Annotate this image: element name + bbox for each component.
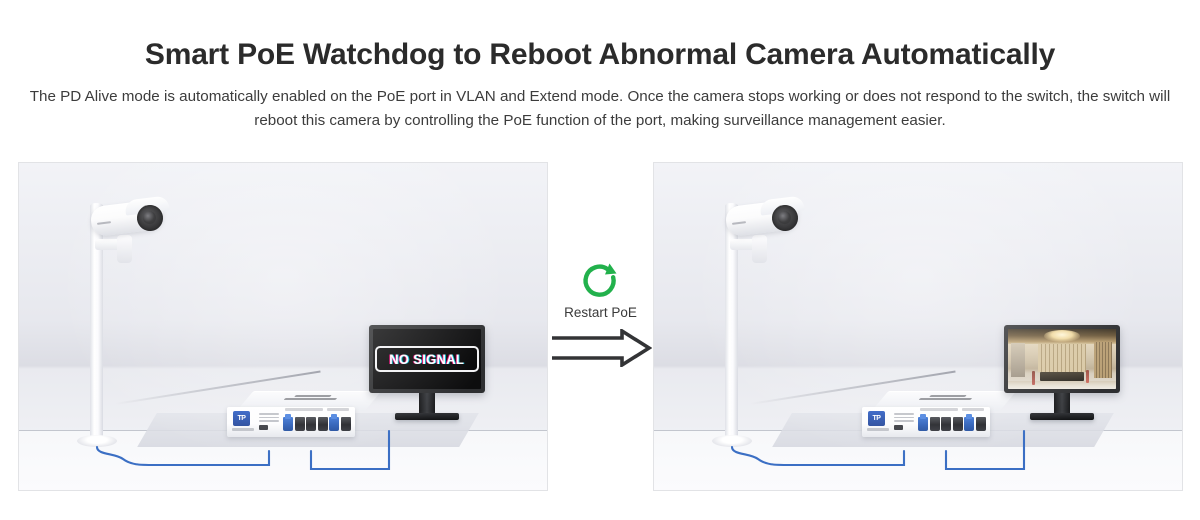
transition-indicator: Restart PoE xyxy=(547,163,654,490)
switch-led-indicators xyxy=(894,413,914,424)
switch-model-label xyxy=(867,428,889,431)
hotel-lobby-video-feed xyxy=(1008,329,1116,389)
poe-switch: TP xyxy=(227,391,373,437)
switch-port-1[interactable] xyxy=(283,417,293,431)
monitor-screen: NO SIGNAL xyxy=(373,329,481,389)
switch-front-face: TP xyxy=(227,407,355,437)
switch-top-branding xyxy=(910,395,980,404)
switch-port-2[interactable] xyxy=(295,417,305,431)
lobby-right-pillar xyxy=(1094,342,1111,378)
switch-port-5[interactable] xyxy=(964,417,974,431)
switch-port-group-label-1 xyxy=(285,408,323,411)
switch-port-group-label-2 xyxy=(327,408,349,411)
switch-model-label xyxy=(232,428,254,431)
restart-poe-label: Restart PoE xyxy=(547,305,654,320)
switch-port-4[interactable] xyxy=(318,417,328,431)
switch-port-6[interactable] xyxy=(976,417,986,431)
switch-mode-button[interactable] xyxy=(894,425,903,430)
lobby-person-1 xyxy=(1032,371,1035,385)
switch-top-branding xyxy=(275,395,345,404)
lobby-back-wall xyxy=(1038,344,1086,372)
monitor-stand-neck xyxy=(1054,393,1070,415)
page-subtitle: The PD Alive mode is automatically enabl… xyxy=(20,85,1180,132)
monitor-bezel: NO SIGNAL xyxy=(369,325,485,393)
switch-brand-logo: TP xyxy=(233,411,250,426)
switch-port-2[interactable] xyxy=(930,417,940,431)
no-signal-text: NO SIGNAL xyxy=(390,351,465,367)
flow-arrow-icon xyxy=(550,329,652,367)
switch-led-indicators xyxy=(259,413,279,424)
lobby-reception-desk xyxy=(1040,372,1083,381)
monitor-screen xyxy=(1008,329,1116,389)
switch-brand-logo: TP xyxy=(868,411,885,426)
panel-after-state: TP xyxy=(654,163,1182,490)
monitor-stand-base xyxy=(395,413,459,420)
switch-port-4[interactable] xyxy=(953,417,963,431)
header: Smart PoE Watchdog to Reboot Abnormal Ca… xyxy=(0,0,1200,132)
lobby-left-pillar xyxy=(1011,343,1025,377)
panel-before-state: TP xyxy=(19,163,547,490)
monitor-stand-neck xyxy=(419,393,435,415)
switch-port-row xyxy=(918,412,986,432)
switch-mode-button[interactable] xyxy=(259,425,268,430)
switch-port-3[interactable] xyxy=(941,417,951,431)
switch-port-group-label-1 xyxy=(920,408,958,411)
restart-poe-icon xyxy=(578,260,622,304)
no-signal-box: NO SIGNAL xyxy=(375,346,478,372)
switch-port-group-label-2 xyxy=(962,408,984,411)
switch-port-row xyxy=(283,412,351,432)
monitor-bezel xyxy=(1004,325,1120,393)
lobby-person-2 xyxy=(1086,370,1089,383)
page-title: Smart PoE Watchdog to Reboot Abnormal Ca… xyxy=(0,38,1200,71)
switch-port-6[interactable] xyxy=(341,417,351,431)
poe-switch: TP xyxy=(862,391,1008,437)
switch-front-face: TP xyxy=(862,407,990,437)
illustration-stage: TP xyxy=(0,163,1200,493)
switch-port-3[interactable] xyxy=(306,417,316,431)
lobby-marble-floor xyxy=(1008,381,1116,389)
switch-port-5[interactable] xyxy=(329,417,339,431)
switch-port-1[interactable] xyxy=(918,417,928,431)
monitor-stand-base xyxy=(1030,413,1094,420)
lobby-chandelier xyxy=(1044,330,1081,342)
